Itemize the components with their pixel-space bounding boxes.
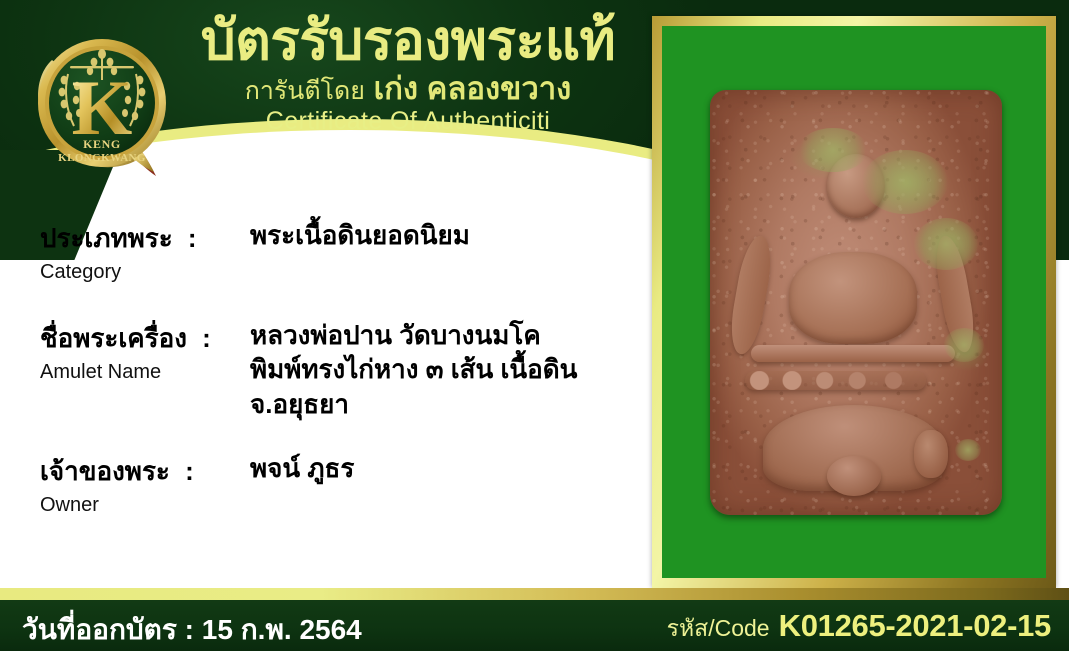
title-english: Certificate Of Authenticiti — [168, 107, 648, 136]
field-amulet-name-label-en: Amulet Name — [40, 361, 240, 384]
field-owner-colon: : — [185, 456, 194, 486]
issue-date: วันที่ออกบัตร : 15 ก.พ. 2564 — [22, 608, 362, 651]
field-category: ประเภทพระ : Category พระเนื้อดินยอดนิยม — [40, 218, 640, 284]
field-amulet-name-colon: : — [202, 323, 211, 353]
field-owner-label-en: Owner — [40, 494, 240, 517]
field-category-value: พระเนื้อดินยอดนิยม — [250, 218, 470, 252]
amulet-photo-frame — [652, 16, 1056, 588]
code-value: K01265-2021-02-15 — [779, 608, 1051, 644]
amulet-relief-beads — [745, 371, 926, 390]
issue-date-value: 15 ก.พ. 2564 — [202, 614, 362, 645]
issue-date-label: วันที่ออกบัตร : — [22, 614, 194, 645]
amulet-tablet-image — [710, 90, 1002, 515]
amulet-relief-rooster — [914, 430, 948, 478]
title-block: บัตรรับรองพระแท้ การันตีโดย เก่ง คลองขวา… — [168, 12, 648, 136]
keng-klongkwang-logo: K KENG KLONGKWANG — [24, 18, 184, 188]
certificate-code: รหัส/Code K01265-2021-02-15 — [667, 608, 1051, 647]
field-owner: เจ้าของพระ : Owner พจน์ ภูธร — [40, 451, 640, 517]
field-category-colon: : — [188, 223, 197, 253]
guarantee-prefix: การันตีโดย — [245, 77, 365, 105]
field-owner-value: พจน์ ภูธร — [250, 451, 354, 485]
certificate-fields: ประเภทพระ : Category พระเนื้อดินยอดนิยม … — [40, 218, 640, 535]
amulet-relief-left-arc — [726, 233, 776, 356]
amulet-relief-knob — [827, 456, 881, 496]
footer-gold-band — [0, 588, 1069, 600]
field-category-label-en: Category — [40, 261, 240, 284]
page-title: บัตรรับรองพระแท้ — [168, 12, 648, 68]
certificate-footer: วันที่ออกบัตร : 15 ก.พ. 2564 รหัส/Code K… — [0, 600, 1069, 651]
logo-name-line1: KENG — [83, 137, 121, 151]
amulet-moss-patch — [914, 218, 978, 270]
amulet-moss-patch — [944, 328, 984, 362]
amulet-moss-patch — [798, 128, 868, 172]
field-category-label-th: ประเภทพระ : — [40, 218, 240, 259]
logo-medallion-svg: K KENG KLONGKWANG — [24, 18, 184, 188]
amulet-relief-torso — [789, 252, 917, 344]
certificate-card: บัตรรับรองพระแท้ การันตีโดย เก่ง คลองขวา… — [0, 0, 1069, 651]
logo-name-line2: KLONGKWANG — [58, 152, 146, 164]
guarantor-name: เก่ง คลองขวาง — [374, 71, 572, 106]
guarantee-line: การันตีโดย เก่ง คลองขวาง — [168, 72, 648, 106]
amulet-moss-patch — [862, 150, 948, 214]
amulet-relief-bar — [751, 345, 955, 362]
code-label: รหัส/Code — [667, 611, 770, 647]
field-amulet-name-value: หลวงพ่อปาน วัดบางนมโค พิมพ์ทรงไก่หาง ๓ เ… — [250, 318, 577, 421]
field-owner-label-th: เจ้าของพระ : — [40, 451, 240, 492]
amulet-moss-patch — [955, 439, 981, 461]
amulet-photo — [662, 26, 1046, 578]
field-amulet-name: ชื่อพระเครื่อง : Amulet Name หลวงพ่อปาน … — [40, 318, 640, 421]
field-amulet-name-label-th: ชื่อพระเครื่อง : — [40, 318, 240, 359]
